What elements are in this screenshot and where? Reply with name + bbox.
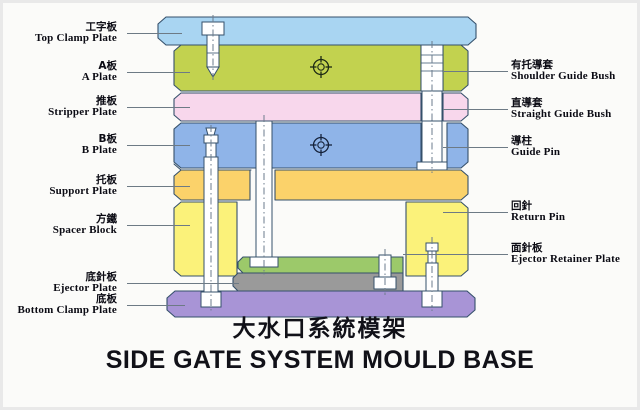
label-b-plate: B板 B Plate [82,134,117,157]
leader-spacer-block [127,225,190,226]
guide-pin-assembly [417,41,447,173]
label-en: Guide Pin [511,147,560,159]
diagram-title: 大水口系統模架 SIDE GATE SYSTEM MOULD BASE [3,315,637,376]
leader-support-plate [127,186,190,187]
leader-shoulder-guide-bush [443,71,508,72]
label-en: Stripper Plate [48,107,117,119]
label-ejector-plate: 底針板 Ejector Plate [53,272,117,295]
leader-ejector-plate [127,283,239,284]
label-ejector-retainer-plate: 面針板 Ejector Retainer Plate [511,243,620,266]
label-straight-guide-bush: 直導套 Straight Guide Bush [511,98,611,121]
label-spacer-block: 方鐵 Spacer Block [53,214,117,237]
leader-top-clamp-plate [127,33,182,34]
label-support-plate: 托板 Support Plate [49,175,117,198]
label-shoulder-guide-bush: 有托導套 Shoulder Guide Bush [511,60,615,83]
label-en: Ejector Retainer Plate [511,254,620,266]
label-guide-pin: 導柱 Guide Pin [511,136,560,159]
label-stripper-plate: 推板 Stripper Plate [48,96,117,119]
label-en: A Plate [82,72,117,84]
label-en: Top Clamp Plate [35,33,117,45]
label-en: B Plate [82,145,117,157]
label-en: Return Pin [511,212,565,224]
label-return-pin: 回針 Return Pin [511,201,565,224]
mould-base-diagram-page: .o{stroke:#35506b;stroke-width:1.1;strok… [0,0,640,410]
leader-a-plate [127,72,190,73]
label-en: Spacer Block [53,225,117,237]
label-en: Straight Guide Bush [511,109,611,121]
title-english: SIDE GATE SYSTEM MOULD BASE [3,345,637,376]
leader-guide-pin [443,147,508,148]
leader-stripper-plate [127,107,190,108]
leader-straight-guide-bush [443,109,508,110]
label-en: Support Plate [49,186,117,198]
title-chinese: 大水口系統模架 [3,315,637,344]
label-en: Shoulder Guide Bush [511,71,615,83]
label-a-plate: A板 A Plate [82,61,117,84]
leader-ejector-retainer-plate [403,254,508,255]
label-bottom-clamp-plate: 底板 Bottom Clamp Plate [17,294,117,317]
leader-return-pin [443,212,508,213]
leader-b-plate [127,145,190,146]
label-top-clamp-plate: 工字板 Top Clamp Plate [35,22,117,45]
leader-bottom-clamp-plate [127,305,185,306]
